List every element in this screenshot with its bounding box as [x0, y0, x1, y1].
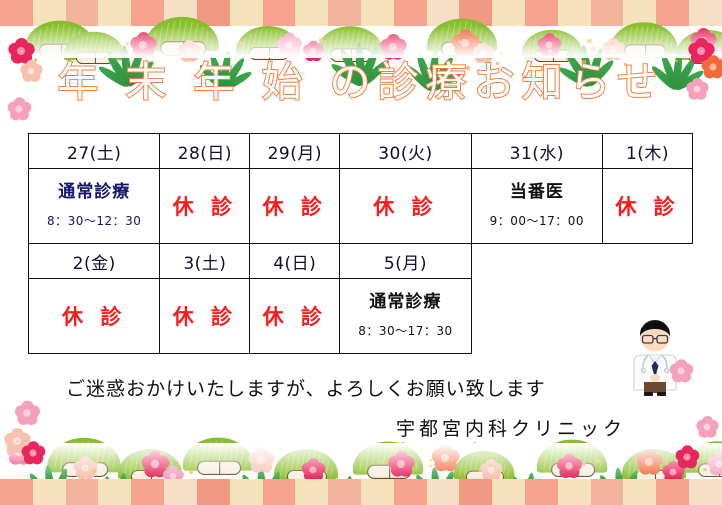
- holiday-notice-poster: 年 末 年 始 の診療お知らせ 27(土) 28(日) 29(月) 30(火) …: [0, 0, 722, 505]
- checker-square: [328, 479, 361, 505]
- status-hours: 8：30〜12：30: [29, 212, 159, 229]
- plum-blossom-decoration: [669, 359, 692, 382]
- confetti-dot: [500, 52, 504, 56]
- day-header: 3(土): [160, 244, 250, 279]
- schedule-body: 27(土) 28(日) 29(月) 30(火) 31(水) 1(木) 通常診療 …: [29, 134, 693, 354]
- status-label: 休 診: [29, 301, 159, 331]
- confetti-dot: [96, 453, 100, 457]
- confetti-dot: [376, 39, 380, 43]
- status-label: 休 診: [250, 191, 339, 221]
- empty-cell: [471, 244, 602, 279]
- checker-square: [98, 479, 131, 505]
- confetti-dot: [587, 39, 591, 43]
- plum-blossom-decoration: [675, 445, 698, 468]
- status-label: 通常診療: [29, 183, 159, 203]
- checker-square: [689, 479, 722, 505]
- confetti-dot: [458, 40, 461, 43]
- checker-square: [656, 479, 689, 505]
- checker-square: [66, 479, 99, 505]
- checker-square: [230, 479, 263, 505]
- plum-blossom-decoration: [707, 452, 722, 475]
- day-header: 27(土): [29, 134, 160, 169]
- status-cell: 休 診: [160, 169, 250, 244]
- day-header: 28(日): [160, 134, 250, 169]
- holiday-schedule-table: 27(土) 28(日) 29(月) 30(火) 31(水) 1(木) 通常診療 …: [28, 133, 693, 354]
- plum-blossom-decoration: [7, 97, 30, 120]
- empty-cell: [471, 279, 602, 354]
- confetti-dot: [119, 44, 122, 47]
- status-cell: 休 診: [160, 279, 250, 354]
- confetti-dot: [637, 469, 640, 472]
- status-cell: 通常診療 8：30〜17：30: [340, 279, 471, 354]
- checker-square: [164, 479, 197, 505]
- plum-blossom-decoration: [130, 32, 156, 58]
- confetti-dot: [249, 443, 252, 446]
- day-header: 1(木): [603, 134, 693, 169]
- table-row-header-2: 2(金) 3(土) 4(日) 5(月): [29, 244, 693, 279]
- status-hours: 8：30〜17：30: [340, 322, 470, 339]
- checker-square: [0, 479, 33, 505]
- empty-cell: [603, 244, 693, 279]
- confetti-dot: [429, 459, 432, 462]
- confetti-dot: [611, 42, 615, 46]
- plum-blossom-decoration: [602, 38, 624, 60]
- checker-square: [558, 479, 591, 505]
- confetti-dot: [224, 449, 228, 453]
- status-cell: 通常診療 8：30〜12：30: [29, 169, 160, 244]
- checker-square: [197, 479, 230, 505]
- checker-square: [361, 479, 394, 505]
- status-label: 休 診: [250, 301, 339, 331]
- plum-blossom-decoration: [21, 441, 44, 464]
- confetti-dot: [379, 452, 382, 455]
- status-label: 休 診: [160, 301, 249, 331]
- day-header: 31(水): [471, 134, 602, 169]
- plum-blossom-decoration: [701, 55, 722, 78]
- status-label: 通常診療: [340, 293, 470, 313]
- plum-blossom-decoration: [388, 451, 414, 477]
- checker-square: [591, 479, 624, 505]
- confetti-dot: [473, 442, 475, 444]
- status-label: 当番医: [472, 183, 602, 203]
- plum-blossom-decoration: [20, 60, 42, 82]
- confetti-dot: [497, 470, 499, 472]
- confetti-dot: [703, 468, 706, 471]
- checker-square: [33, 479, 66, 505]
- plum-blossom-decoration: [248, 447, 274, 473]
- status-label: 休 診: [340, 191, 470, 221]
- confetti-dot: [64, 52, 68, 56]
- plum-blossom-decoration: [380, 34, 406, 60]
- checker-square: [623, 479, 656, 505]
- checker-square: [295, 479, 328, 505]
- status-label: 休 診: [160, 191, 249, 221]
- confetti-dot: [160, 451, 164, 455]
- checker-square: [459, 479, 492, 505]
- day-header: 29(月): [250, 134, 340, 169]
- confetti-dot: [189, 470, 193, 474]
- status-label: 休 診: [603, 191, 692, 221]
- confetti-dot: [401, 442, 405, 446]
- checker-square: [394, 479, 427, 505]
- plum-blossom-decoration: [537, 33, 560, 56]
- day-header: 5(月): [340, 244, 471, 279]
- day-header: 4(日): [250, 244, 340, 279]
- confetti-dot: [591, 47, 595, 51]
- status-cell: 当番医 9：00〜17：00: [471, 169, 602, 244]
- confetti-dot: [523, 50, 525, 52]
- plum-blossom-decoration: [73, 456, 96, 479]
- status-cell: 休 診: [603, 169, 693, 244]
- checker-square: [427, 479, 460, 505]
- checker-square: [131, 479, 164, 505]
- confetti-dot: [242, 42, 245, 45]
- page-title: 年 末 年 始 の診療お知らせ: [0, 62, 722, 103]
- doctor-illustration: [622, 312, 688, 398]
- apology-message: ご迷惑おかけいたしますが、よろしくお願い致します: [66, 374, 546, 401]
- status-cell: 休 診: [250, 169, 340, 244]
- table-row-status-1: 通常診療 8：30〜12：30 休 診 休 診 休 診 当番医 9：00〜17：…: [29, 169, 693, 244]
- status-cell: 休 診: [250, 279, 340, 354]
- plum-blossom-decoration: [277, 33, 302, 58]
- plum-blossom-decoration: [431, 444, 458, 471]
- checker-square: [492, 479, 525, 505]
- status-cell: 休 診: [340, 169, 471, 244]
- confetti-dot: [533, 49, 535, 51]
- plum-blossom-decoration: [696, 416, 718, 438]
- table-row-header-1: 27(土) 28(日) 29(月) 30(火) 31(水) 1(木): [29, 134, 693, 169]
- checker-square: [525, 479, 558, 505]
- confetti-dot: [126, 44, 129, 47]
- plum-blossom-decoration: [686, 78, 708, 100]
- day-header: 2(金): [29, 244, 160, 279]
- checker-square: [263, 479, 296, 505]
- plum-blossom-decoration: [557, 454, 582, 479]
- status-hours: 9：00〜17：00: [472, 212, 602, 229]
- checker-band-bottom: [0, 479, 722, 505]
- table-row-status-2: 休 診 休 診 休 診 通常診療 8：30〜17：30: [29, 279, 693, 354]
- plum-blossom-decoration: [15, 401, 40, 426]
- confetti-dot: [97, 50, 101, 54]
- day-header: 30(火): [340, 134, 471, 169]
- status-cell: 休 診: [29, 279, 160, 354]
- confetti-dot: [582, 462, 586, 466]
- confetti-dot: [421, 448, 423, 450]
